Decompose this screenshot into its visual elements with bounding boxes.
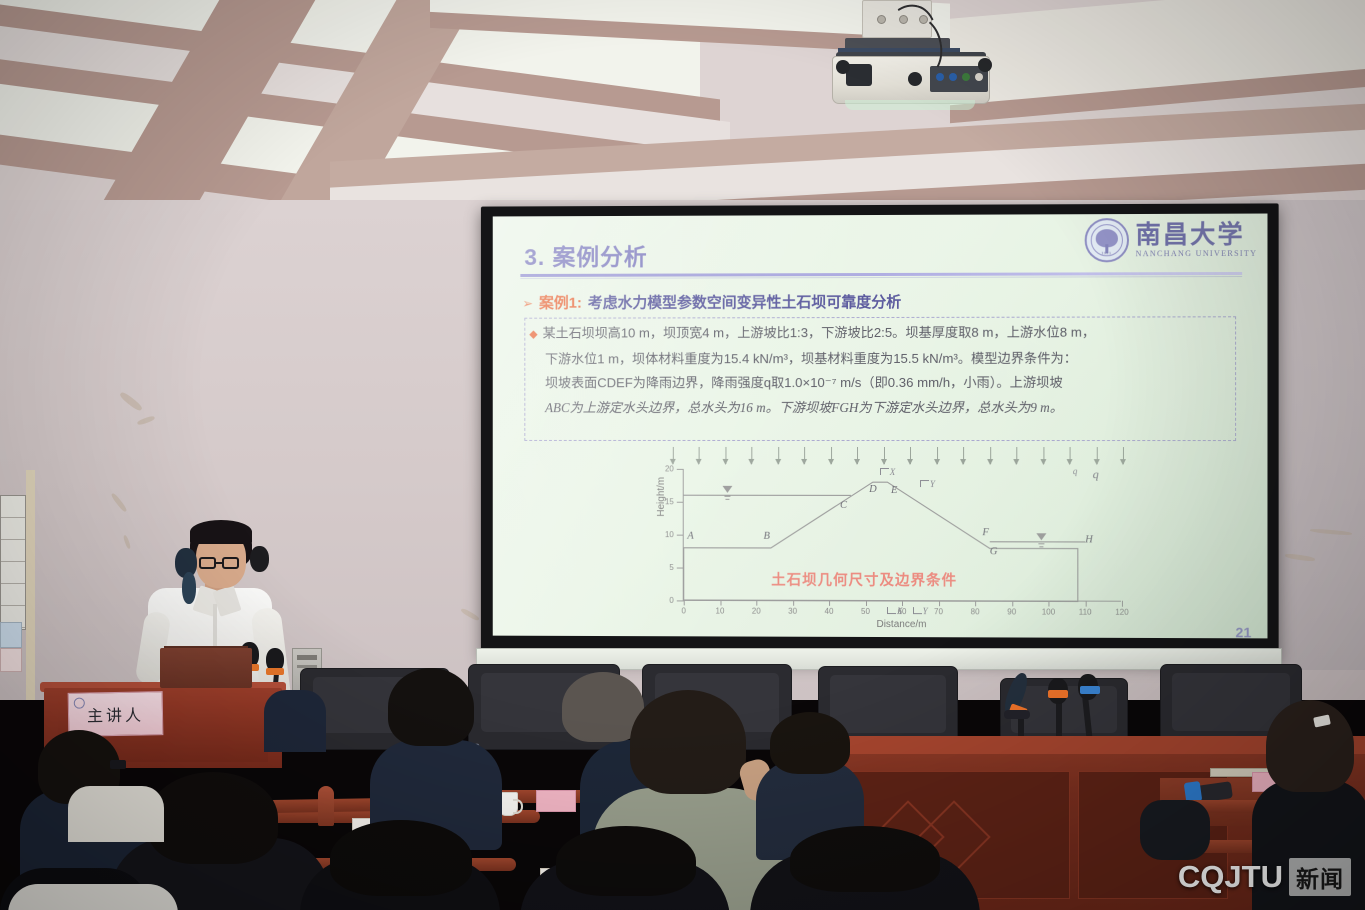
body-line-3: 坝坡表面CDEF为降雨边界，降雨强度q取1.0×10⁻⁷ m/s（即0.36 m… bbox=[545, 371, 1063, 396]
slide-title: 3. 案例分析 bbox=[524, 238, 647, 272]
body-line-4: ABC为上游定水头边界，总水头为16 m。下游坝坡FGH为下游定水头边界，总水头… bbox=[545, 395, 1063, 420]
body-line-1: 某土石坝坝高10 m，坝顶宽4 m，上游坡比1:3，下游坡比2:5。坝基厚度取8… bbox=[543, 321, 1096, 346]
x-tick bbox=[866, 600, 867, 606]
rain-arrow-icon bbox=[884, 447, 885, 464]
slide-page-number: 21 bbox=[1236, 624, 1252, 638]
section-marker-icon bbox=[920, 480, 929, 487]
lecture-hall-photo: 1921 南昌大学 NANCHANG UNIVERSITY 3. 案例分析 ➢ … bbox=[0, 0, 1365, 910]
watermark-badge: 新闻 bbox=[1296, 867, 1344, 893]
x-tick-label: 120 bbox=[1115, 608, 1128, 617]
x-tick-label: 30 bbox=[788, 607, 797, 616]
dam-cross-section-chart: q Height/m Distance/m 土石坝几何尺寸及边界条件 05101… bbox=[651, 447, 1121, 626]
body-line-2: 下游水位1 m，坝体材料重度为15.4 kN/m³，坝基材料重度为15.5 kN… bbox=[545, 346, 1077, 371]
point-label-G: G bbox=[990, 546, 998, 557]
x-tick bbox=[939, 600, 940, 606]
bench-post bbox=[318, 786, 334, 826]
x-tick bbox=[1122, 601, 1123, 607]
x-tick-label: 40 bbox=[825, 607, 834, 616]
nanchang-university-logo: 1921 南昌大学 NANCHANG UNIVERSITY bbox=[1084, 218, 1257, 263]
rain-arrow-icon bbox=[725, 447, 726, 464]
x-tick-label: 0 bbox=[682, 606, 686, 615]
water-table-bar bbox=[724, 496, 730, 497]
point-label-H: H bbox=[1085, 534, 1093, 545]
section-marker-icon bbox=[913, 607, 922, 614]
board-frame bbox=[26, 470, 35, 700]
notice-blue-card bbox=[0, 622, 22, 648]
y-tick-label: 20 bbox=[665, 464, 674, 473]
podium-sign-text: 主讲人 bbox=[87, 702, 144, 727]
rain-arrow-icon bbox=[1096, 447, 1097, 464]
sign-seal-icon bbox=[74, 698, 85, 709]
rain-arrow-icon bbox=[990, 447, 991, 464]
y-tick bbox=[677, 568, 684, 569]
x-tick bbox=[829, 600, 830, 606]
y-tick-label: 5 bbox=[669, 563, 673, 572]
rain-arrow-icon bbox=[963, 447, 964, 464]
rain-arrow-icon bbox=[778, 447, 779, 464]
case-title: 考虑水力模型参数空间变异性土石坝可靠度分析 bbox=[588, 291, 901, 313]
rain-arrow-icon bbox=[1070, 447, 1071, 464]
annotation-Y: Y bbox=[930, 479, 935, 489]
x-tick-label: 110 bbox=[1079, 608, 1092, 617]
rain-arrow-icon bbox=[804, 447, 805, 464]
water-table-icon bbox=[1036, 533, 1046, 540]
case-label: 案例1: bbox=[539, 292, 582, 313]
ceiling bbox=[0, 0, 1365, 215]
section-marker-icon bbox=[887, 607, 896, 614]
notice-board bbox=[0, 495, 26, 630]
x-axis-label: Distance/m bbox=[876, 619, 926, 630]
rain-arrow-icon bbox=[752, 447, 753, 464]
section-marker-icon bbox=[880, 468, 889, 475]
university-seal-icon: 1921 bbox=[1084, 218, 1128, 262]
y-tick-label: 10 bbox=[665, 530, 674, 539]
rain-arrow-icon bbox=[1016, 447, 1017, 464]
rainfall-arrows bbox=[673, 447, 1123, 467]
y-tick-label: 15 bbox=[665, 497, 674, 506]
name-card bbox=[536, 790, 576, 812]
bullet-arrow-icon: ➢ bbox=[522, 296, 533, 312]
y-tick bbox=[677, 469, 684, 470]
water-table-bar bbox=[1039, 546, 1043, 547]
bullet-diamond-icon: ◆ bbox=[529, 323, 537, 347]
rain-arrow-icon bbox=[857, 447, 858, 464]
logo-name-cn: 南昌大学 bbox=[1136, 222, 1258, 248]
watermark-brand: CQJTU bbox=[1178, 859, 1283, 895]
point-label-E: E bbox=[891, 485, 897, 496]
x-tick bbox=[1048, 601, 1049, 607]
rain-arrow-icon bbox=[910, 447, 911, 464]
glasses-arm bbox=[110, 760, 126, 769]
point-label-F: F bbox=[982, 527, 988, 538]
slide-body-text: ◆ 某土石坝坝高10 m，坝顶宽4 m，上游坡比1:3，下游坡比2:5。坝基厚度… bbox=[524, 316, 1236, 441]
chart-caption: 土石坝几何尺寸及边界条件 bbox=[771, 569, 957, 590]
x-tick bbox=[1012, 600, 1013, 606]
water-table-bar bbox=[725, 499, 729, 500]
y-tick bbox=[677, 502, 684, 503]
y-tick-label: 0 bbox=[669, 596, 673, 605]
news-watermark: CQJTU 新闻 bbox=[1178, 858, 1351, 896]
presentation-slide: 1921 南昌大学 NANCHANG UNIVERSITY 3. 案例分析 ➢ … bbox=[493, 214, 1268, 639]
point-label-B: B bbox=[764, 530, 770, 541]
x-tick-label: 50 bbox=[861, 607, 870, 616]
x-tick bbox=[720, 600, 721, 606]
chart-axes: Height/m Distance/m 土石坝几何尺寸及边界条件 0510152… bbox=[683, 469, 1121, 602]
projector-glow bbox=[845, 100, 975, 110]
y-tick bbox=[677, 600, 684, 601]
x-tick bbox=[793, 600, 794, 606]
point-label-D: D bbox=[869, 484, 877, 495]
x-tick-label: 90 bbox=[1007, 607, 1016, 616]
x-tick bbox=[1085, 601, 1086, 607]
notice-red-card bbox=[0, 648, 22, 672]
x-tick-label: 10 bbox=[716, 607, 725, 616]
x-tick bbox=[756, 600, 757, 606]
y-tick bbox=[677, 535, 684, 536]
rain-arrow-icon bbox=[1123, 447, 1124, 464]
x-tick-label: 100 bbox=[1042, 608, 1055, 617]
x-tick bbox=[684, 599, 685, 605]
x-tick-label: 70 bbox=[934, 607, 943, 616]
water-table-bar bbox=[1038, 543, 1044, 544]
annotation-X: X bbox=[890, 467, 896, 477]
point-label-A: A bbox=[687, 530, 693, 541]
projection-screen: 1921 南昌大学 NANCHANG UNIVERSITY 3. 案例分析 ➢ … bbox=[481, 203, 1279, 661]
case-heading: ➢ 案例1: 考虑水力模型参数空间变异性土石坝可靠度分析 bbox=[522, 291, 901, 313]
x-tick-label: 80 bbox=[971, 607, 980, 616]
rain-arrow-icon bbox=[937, 447, 938, 464]
annotation-Y: Y bbox=[923, 606, 928, 616]
rain-arrow-icon bbox=[673, 447, 674, 464]
logo-name-en: NANCHANG UNIVERSITY bbox=[1136, 249, 1258, 258]
x-tick-label: 20 bbox=[752, 607, 761, 616]
x-tick bbox=[975, 600, 976, 606]
annotation-q: q bbox=[1073, 466, 1078, 476]
point-label-C: C bbox=[840, 500, 847, 511]
rain-arrow-icon bbox=[699, 447, 700, 464]
annotation-X: X bbox=[897, 606, 903, 616]
logo-year: 1921 bbox=[1086, 250, 1126, 255]
rain-arrow-icon bbox=[831, 447, 832, 464]
water-table-icon bbox=[722, 486, 732, 493]
podium-laptop bbox=[160, 648, 252, 688]
rain-arrow-icon bbox=[1043, 447, 1044, 464]
